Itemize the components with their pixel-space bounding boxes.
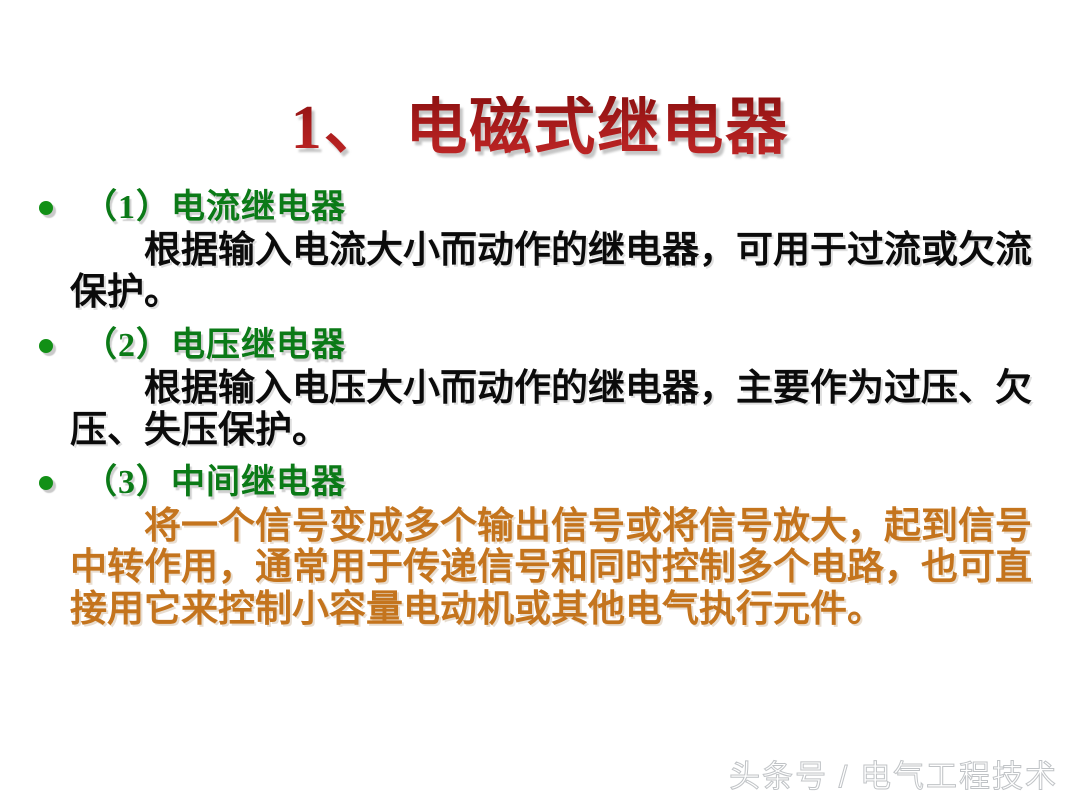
- bullet-heading-row: （1）电流继电器: [26, 188, 1056, 228]
- content-list: （1）电流继电器 根据输入电流大小而动作的继电器，可用于过流或欠流保护。 （2）…: [26, 188, 1056, 635]
- list-item-body: 根据输入电流大小而动作的继电器，可用于过流或欠流保护。: [70, 230, 1056, 314]
- list-item-body: 将一个信号变成多个输出信号或将信号放大，起到信号中转作用，通常用于传递信号和同时…: [70, 506, 1056, 631]
- list-item-label: （1）电流继电器: [83, 188, 346, 228]
- watermark: 头条号 / 电气工程技术: [729, 751, 1058, 796]
- list-item: （3）中间继电器 将一个信号变成多个输出信号或将信号放大，起到信号中转作用，通常…: [26, 463, 1056, 631]
- bullet-heading-row: （2）电压继电器: [26, 326, 1056, 366]
- green-dot-bullet-icon: [39, 201, 53, 215]
- page-title: 1、 电磁式继电器: [0, 96, 1080, 161]
- list-item-label: （2）电压继电器: [83, 326, 346, 366]
- bullet-heading-row: （3）中间继电器: [26, 463, 1056, 503]
- green-dot-bullet-icon: [39, 476, 53, 490]
- list-item: （1）电流继电器 根据输入电流大小而动作的继电器，可用于过流或欠流保护。: [26, 188, 1056, 314]
- list-item-body: 根据输入电压大小而动作的继电器，主要作为过压、欠压、失压保护。: [70, 368, 1056, 452]
- list-item: （2）电压继电器 根据输入电压大小而动作的继电器，主要作为过压、欠压、失压保护。: [26, 326, 1056, 452]
- slide-canvas: 1、 电磁式继电器 （1）电流继电器 根据输入电流大小而动作的继电器，可用于过流…: [0, 0, 1080, 810]
- list-item-label: （3）中间继电器: [83, 463, 346, 503]
- green-dot-bullet-icon: [39, 339, 53, 353]
